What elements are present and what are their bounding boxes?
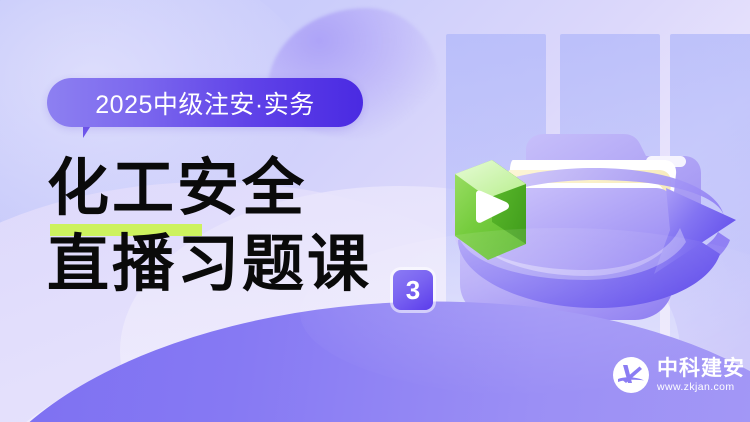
headline-line-2: 直播习题课 [47,231,372,297]
brand-name: 中科建安 [657,358,745,380]
headline-line-1: 化工安全 [47,155,372,221]
course-category-badge: 2025中级注安·实务 [47,78,363,127]
zkjan-circle-mark-icon [612,356,650,394]
course-category-label: 2025中级注安·实务 [95,85,314,121]
episode-number-badge: 3 [393,270,433,310]
headline-line-1-text: 化工安全 [47,151,307,224]
headline-block: 化工安全 直播习题课 [47,155,372,297]
headline-line-2-text: 直播习题课 [47,227,372,300]
episode-number-label: 3 [406,275,420,306]
brand-url: www.zkjan.com [657,381,745,393]
brand-logo: 中科建安 www.zkjan.com [612,356,745,394]
course-banner: 2025中级注安·实务 化工安全 直播习题课 3 中科建安 www.zkjan.… [0,0,750,422]
brand-logo-text: 中科建安 www.zkjan.com [657,358,745,393]
